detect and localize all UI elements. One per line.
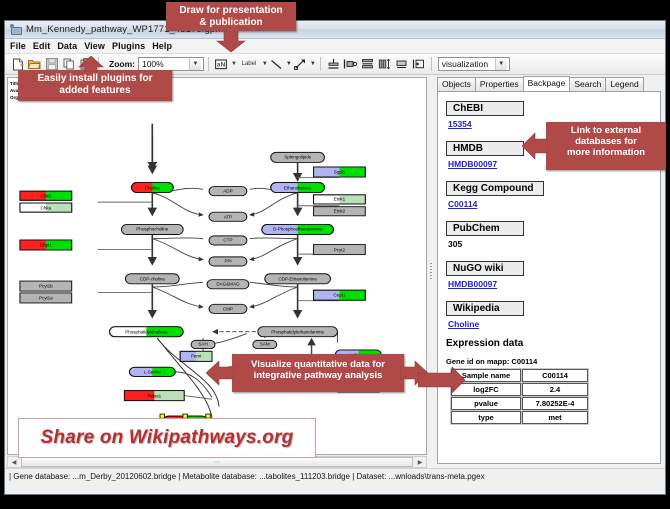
pathway-node [125,274,179,284]
distribute-icon[interactable] [376,56,393,73]
scroll-thumb[interactable]: ⋯ [21,457,413,467]
callout-visualize-arrow-left-icon [206,360,234,386]
pathway-node [209,212,247,221]
expression-data-table: Sample name C00114 log2FC 2.4 pvalue 7.8… [450,368,589,425]
menu-edit[interactable]: Edit [33,41,50,51]
chebi-header: ChEBI [446,101,524,116]
pathway-node [314,290,366,300]
pathway-node [258,327,338,337]
callout-plugins-line-1: Easily install plugins for [18,73,172,85]
cell-type-value: met [522,411,588,424]
pathway-node [314,207,366,216]
pathway-node [20,240,72,250]
menu-plugins[interactable]: Plugins [112,41,145,51]
pathway-editor-pane: Title: Availa Organi [5,75,429,468]
pathway-node [314,167,366,177]
share-banner-text: Share on Wikipathways.org [41,427,294,449]
toolbar-separator-3 [320,57,321,71]
pathway-node [20,203,72,212]
scroll-left-icon[interactable]: ◀ [8,457,20,467]
pathway-node [271,182,325,192]
menu-view[interactable]: View [84,41,105,51]
tab-properties[interactable]: Properties [475,77,524,91]
pathway-node [209,257,247,266]
hmdb-header: HMDB [446,141,524,156]
expression-data-title: Expression data [446,338,654,349]
zoom-label: Zoom: [109,59,135,69]
table-row: pvalue 7.80252E-4 [451,397,588,410]
cell-pvalue-key: pvalue [451,397,521,410]
callout-draw-line-2: & publication [166,17,296,29]
common-height-icon[interactable] [410,56,427,73]
pathway-node [253,340,277,348]
cell-pvalue-value: 7.80252E-4 [522,397,588,410]
cell-type-key: type [451,411,521,424]
cell-sample-name-value: C00114 [522,369,588,382]
pathway-diagram[interactable] [8,78,426,454]
visualization-value: visualization [442,59,488,69]
table-row: Sample name C00114 [451,369,588,382]
pathway-node [20,191,72,200]
zoom-value: 100% [142,59,164,69]
align-top-icon[interactable] [325,56,342,73]
callout-link-external-databases: Link to external databases for more info… [546,122,666,170]
pathway-node [314,195,366,204]
pathway-node [110,327,184,337]
tab-legend[interactable]: Legend [605,77,643,91]
callout-link-arrow-left-icon [522,132,548,160]
pathway-node [262,224,334,234]
datanode-icon[interactable]: aN [213,56,230,73]
gene-id-on-mapp: Gene id on mapp: C00114 [446,357,654,366]
callout-plugins-line-2: added features [18,85,172,97]
menu-file[interactable]: File [10,41,26,51]
statusbar: | Gene database: ...m_Derby_20120602.bri… [5,468,665,494]
tab-backpage[interactable]: Backpage [523,76,571,91]
line-icon[interactable] [268,56,285,73]
nugo-wiki-link[interactable]: HMDB00097 [448,279,654,289]
callout-draw-arrow-icon [216,31,246,53]
wikipedia-header: Wikipedia [446,301,524,316]
pathway-node [209,236,247,245]
pathway-node [314,245,366,255]
toolbar-separator-2 [208,57,209,71]
callout-draw-line-1: Draw for presentation [166,5,296,17]
callout-expression-arrow-right-icon [418,366,466,394]
chevron-down-icon: ▼ [189,58,201,70]
kegg-compound-link[interactable]: C00114 [448,199,654,209]
pathway-node [271,152,325,162]
table-row: type met [451,411,588,424]
scroll-right-icon[interactable]: ▶ [414,457,426,467]
callout-visualize-quantitative-data: Visualize quantitative data for integrat… [232,354,404,392]
stack-vertical-icon[interactable] [359,56,376,73]
table-row: log2FC 2.4 [451,383,588,396]
side-panel-tabs: Objects Properties Backpage Search Legen… [433,75,665,91]
share-banner: Share on Wikipathways.org [18,418,316,458]
pathway-node [207,280,249,289]
visualization-combo[interactable]: visualization ▼ [438,57,510,71]
kegg-compound-header: Kegg Compound [446,181,544,196]
nugo-wiki-header: NuGO wiki [446,261,524,276]
interaction-dropdown-icon[interactable]: ▼ [310,61,316,67]
pathvisio-icon [10,24,21,35]
pathway-canvas[interactable]: Title: Availa Organi [7,77,427,455]
pathway-node [209,187,247,196]
pathway-node [20,293,72,303]
cell-log2fc-value: 2.4 [522,383,588,396]
svg-text:aN: aN [217,60,226,68]
pathway-node [209,304,247,313]
chevron-down-icon-2: ▼ [495,58,507,70]
screenshot-root: Mm_Kennedy_pathway_WP1771_45176.gpml Fil… [0,0,670,509]
pathway-node [129,367,175,376]
pathway-node [191,340,215,348]
interaction-icon[interactable] [292,56,309,73]
pubchem-value: 305 [448,239,654,249]
common-width-icon[interactable] [393,56,410,73]
toolbar-separator-4 [431,57,432,71]
tab-search[interactable]: Search [569,77,606,91]
pathway-node [121,224,183,234]
pathway-node [265,274,331,284]
menu-data[interactable]: Data [57,41,77,51]
menu-help[interactable]: Help [152,41,172,51]
callout-plugins-arrow-icon [78,56,104,72]
pathway-node [124,391,184,401]
pathway-node [131,182,173,192]
callout-link-line-3: more information [546,148,666,159]
tab-objects[interactable]: Objects [437,77,476,91]
pathway-node [20,281,72,291]
zoom-combo[interactable]: 100% ▼ [138,57,204,71]
callout-draw-for-publication: Draw for presentation & publication [166,2,296,31]
label-icon[interactable]: Label [237,56,261,73]
pubchem-header: PubChem [446,221,524,236]
window-titlebar[interactable]: Mm_Kennedy_pathway_WP1771_45176.gpml [5,21,665,39]
wikipedia-link[interactable]: Choline [448,319,654,329]
callout-visualize-line-2: integrative pathway analysis [232,371,404,382]
statusbar-text: | Gene database: ...m_Derby_20120602.bri… [9,472,665,481]
callout-install-plugins: Easily install plugins for added feature… [18,70,172,101]
menubar: File Edit Data View Plugins Help [5,39,665,54]
align-left-icon[interactable] [342,56,359,73]
